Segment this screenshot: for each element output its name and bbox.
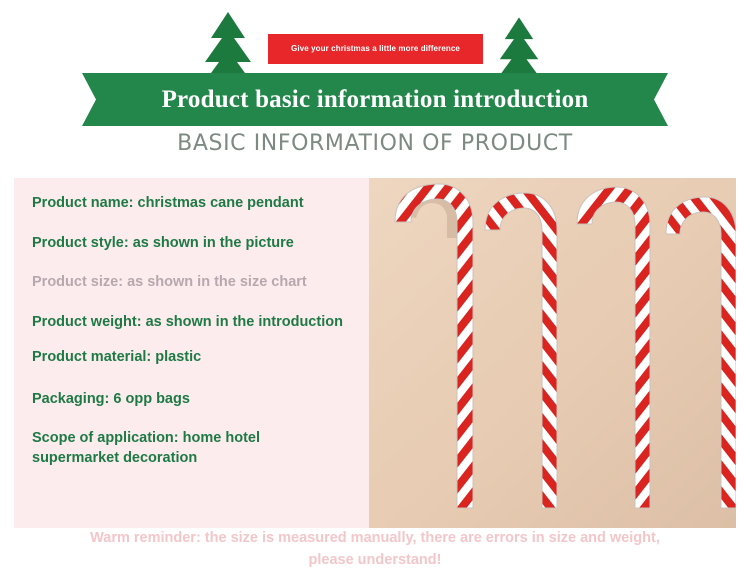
info-line-material: Product material: plastic (32, 348, 351, 368)
page-subtitle: BASIC INFORMATION OF PRODUCT (0, 131, 750, 156)
footer-line-1: Warm reminder: the size is measured manu… (0, 528, 750, 550)
title-banner: Product basic information introduction (82, 73, 668, 126)
info-line-name: Product name: christmas cane pendant (32, 194, 351, 214)
banner-ribbon-left (82, 73, 116, 126)
product-info-page: Give your christmas a little more differ… (0, 0, 750, 587)
header-area: Give your christmas a little more differ… (0, 0, 750, 172)
banner-body: Product basic information introduction (115, 73, 635, 126)
tagline-badge: Give your christmas a little more differ… (268, 34, 483, 64)
footer-line-2: please understand! (0, 550, 750, 572)
tagline-text: Give your christmas a little more differ… (291, 45, 460, 54)
page-title: Product basic information introduction (162, 86, 589, 114)
footer-note: Warm reminder: the size is measured manu… (0, 528, 750, 572)
product-photo (369, 178, 736, 528)
info-line-size: Product size: as shown in the size chart (32, 273, 351, 293)
info-line-scope: Scope of application: home hotel superma… (32, 429, 351, 468)
info-line-weight: Product weight: as shown in the introduc… (32, 313, 351, 333)
info-line-style: Product style: as shown in the picture (32, 234, 351, 254)
info-line-packaging: Packaging: 6 opp bags (32, 390, 351, 410)
content-row: Product name: christmas cane pendant Pro… (14, 178, 736, 528)
banner-ribbon-right (634, 73, 668, 126)
product-info-panel: Product name: christmas cane pendant Pro… (14, 178, 369, 528)
